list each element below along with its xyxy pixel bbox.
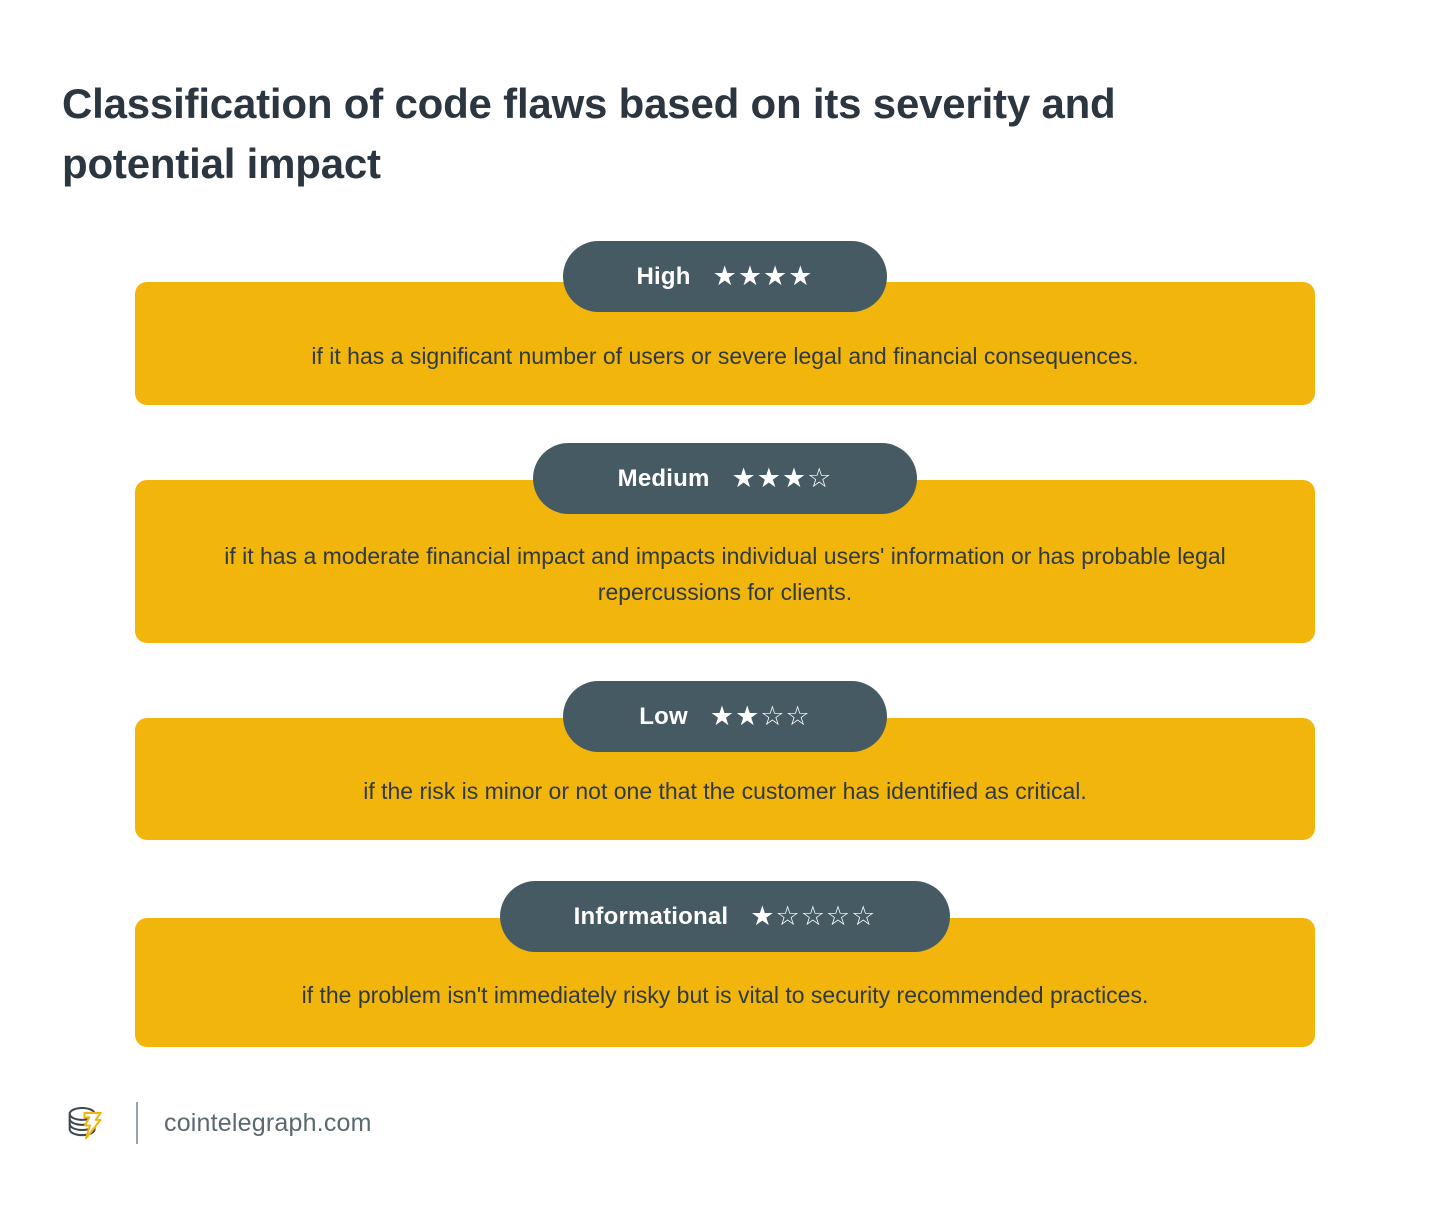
star-rating-icon-low: ★★☆☆ (710, 703, 811, 730)
severity-badge-informational[interactable]: Informational ★☆☆☆☆ (500, 881, 950, 952)
footer-site-label: cointelegraph.com (164, 1109, 372, 1138)
severity-section-informational: if the problem isn't immediately risky b… (0, 881, 1450, 1047)
severity-description-low: if the risk is minor or not one that the… (205, 748, 1245, 810)
star-rating-icon-medium: ★★★☆ (732, 465, 833, 492)
page-title: Classification of code flaws based on it… (62, 74, 1262, 193)
severity-badge-low[interactable]: Low ★★☆☆ (563, 681, 887, 752)
severity-badge-medium[interactable]: Medium ★★★☆ (533, 443, 917, 514)
star-rating-icon-high: ★★★★ (713, 263, 814, 290)
severity-label-medium: Medium (618, 465, 710, 493)
footer-divider (136, 1102, 138, 1144)
star-rating-icon-informational: ★☆☆☆☆ (750, 903, 876, 930)
coin-stack-lightning-logo-icon (62, 1100, 108, 1146)
severity-label-high: High (637, 263, 691, 291)
severity-section-medium: if it has a moderate financial impact an… (0, 443, 1450, 643)
severity-section-high: if it has a significant number of users … (0, 241, 1450, 405)
severity-label-low: Low (639, 703, 688, 731)
footer: cointelegraph.com (62, 1092, 372, 1154)
severity-badge-high[interactable]: High ★★★★ (563, 241, 887, 312)
severity-description-high: if it has a significant number of users … (205, 313, 1245, 375)
severity-section-low: if the risk is minor or not one that the… (0, 681, 1450, 840)
severity-label-informational: Informational (574, 903, 729, 931)
severity-description-medium: if it has a moderate financial impact an… (205, 513, 1245, 610)
severity-description-informational: if the problem isn't immediately risky b… (205, 952, 1245, 1014)
